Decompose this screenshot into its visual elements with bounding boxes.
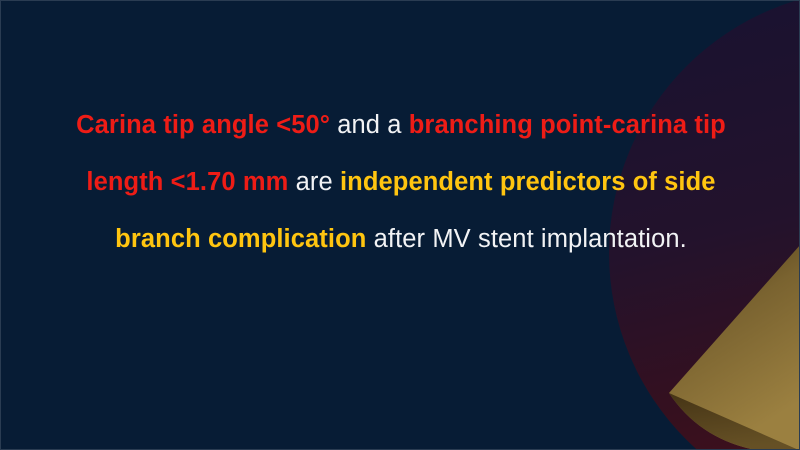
statement-text: Carina tip angle <50° and a branching po…	[51, 97, 751, 268]
line2-segment-white: are	[288, 168, 340, 196]
line1-segment-red-b: branching point-carina tip	[409, 111, 726, 139]
statement-line-1: Carina tip angle <50° and a branching po…	[51, 97, 751, 154]
line3-segment-white: after MV stent implantation.	[366, 225, 686, 253]
line2-segment-red: length <1.70 mm	[86, 168, 288, 196]
line2-segment-yellow: independent predictors of side	[340, 168, 716, 196]
presentation-slide: Carina tip angle <50° and a branching po…	[0, 0, 800, 450]
statement-line-3: branch complication after MV stent impla…	[51, 211, 751, 268]
line1-segment-white: and a	[330, 111, 409, 139]
statement-line-2: length <1.70 mm are independent predicto…	[51, 154, 751, 211]
line3-segment-yellow: branch complication	[115, 225, 366, 253]
line1-segment-red-a: Carina tip angle <50°	[76, 111, 330, 139]
